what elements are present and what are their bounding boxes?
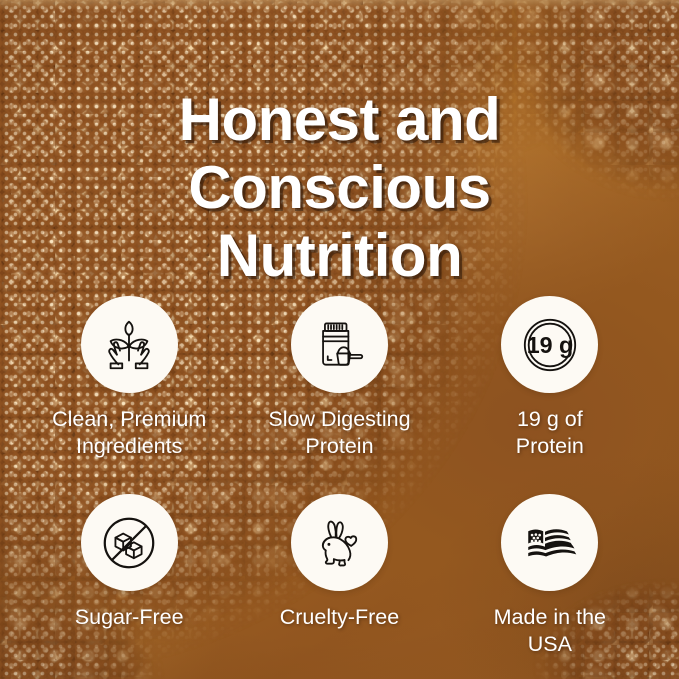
protein-amount-badge-icon: 19 g [519,314,581,376]
headline-line-3: Nutrition [0,222,679,290]
headline-line-1: Honest and [0,86,679,154]
feature-cruelty-free: Cruelty-Free [238,494,440,679]
feature-made-in-usa: Made in the USA [449,494,651,679]
feature-grid: Clean, Premium Ingredients [28,296,651,679]
feature-slow-digesting-protein: Slow Digesting Protein [238,296,440,494]
feature-label: Clean, Premium Ingredients [52,406,206,460]
feature-label-line-2: Protein [305,434,373,458]
protein-amount-value: 19 g [527,332,574,358]
feature-badge [501,494,598,591]
feature-label-line-2: Protein [516,434,584,458]
usa-flag-icon [521,514,579,572]
feature-label-line-1: Cruelty-Free [280,605,399,629]
feature-badge [291,494,388,591]
hands-holding-plant-icon [98,314,160,376]
feature-protein-amount: 19 g 19 g of Protein [449,296,651,494]
feature-label-line-1: Sugar-Free [75,605,184,629]
feature-clean-premium-ingredients: Clean, Premium Ingredients [28,296,230,494]
rabbit-heart-icon [308,512,370,574]
no-sugar-cubes-icon [98,512,160,574]
feature-label-line-1: Made in the [494,605,606,629]
product-feature-banner: Honest and Conscious Nutrition [0,0,679,679]
feature-label-line-1: 19 g of [517,407,583,431]
feature-label: Sugar-Free [75,604,184,631]
protein-tub-scoop-icon [309,315,369,375]
feature-badge [81,296,178,393]
feature-label: Made in the USA [494,604,606,658]
feature-label-line-2: USA [528,632,572,656]
feature-badge [291,296,388,393]
feature-label: Slow Digesting Protein [268,406,410,460]
feature-label-line-1: Slow Digesting [268,407,410,431]
feature-label-line-1: Clean, Premium [52,407,206,431]
headline-line-2: Conscious [0,154,679,222]
feature-badge: 19 g [501,296,598,393]
feature-label-line-2: Ingredients [76,434,182,458]
page-title: Honest and Conscious Nutrition [0,86,679,290]
feature-label: 19 g of Protein [516,406,584,460]
feature-sugar-free: Sugar-Free [28,494,230,679]
feature-label: Cruelty-Free [280,604,399,631]
feature-badge [81,494,178,591]
